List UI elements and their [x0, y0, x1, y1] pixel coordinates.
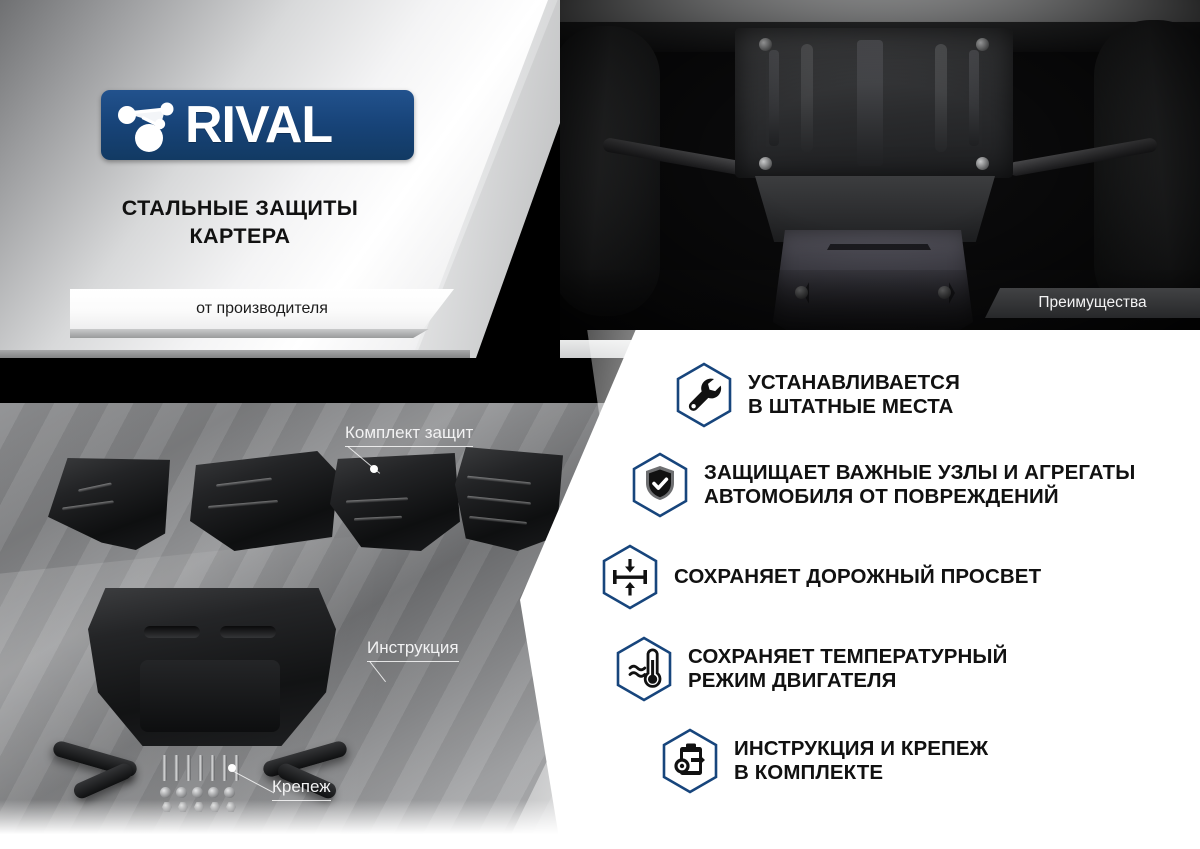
- poster-root: RIVAL СТАЛЬНЫЕ ЗАЩИТЫ КАРТЕРА от произво…: [0, 0, 1200, 849]
- callout-kit-rule: [345, 446, 473, 447]
- ribbon-shadow: [70, 329, 460, 338]
- plate-slot: [220, 626, 276, 638]
- advantage-line1: УСТАНАВЛИВАЕТСЯ: [748, 371, 960, 394]
- advantage-line1: ИНСТРУКЦИЯ И КРЕПЕЖ: [734, 737, 988, 760]
- manufacturer-ribbon: от производителя: [70, 289, 454, 329]
- callout-kit-label: Комплект защит: [345, 423, 473, 442]
- photo-bottom-fade: [0, 800, 620, 849]
- callout-manual-label: Инструкция: [367, 638, 459, 657]
- plate-sump-recess: [140, 660, 280, 732]
- advantage-line2: РЕЖИМ ДВИГАТЕЛЯ: [688, 669, 1007, 693]
- ribbon-label: от производителя: [196, 300, 328, 318]
- skid-plate-main: [88, 588, 336, 746]
- callout-hardware-dot: [228, 764, 236, 772]
- advantage-text: СОХРАНЯЕТ ТЕМПЕРАТУРНЫЙ РЕЖИМ ДВИГАТЕЛЯ: [688, 645, 1007, 693]
- brand-logo: RIVAL: [101, 90, 414, 160]
- advantage-item-kit: ИНСТРУКЦИЯ И КРЕПЕЖ В КОМПЛЕКТЕ: [660, 728, 1200, 794]
- molecule-icon: [113, 94, 187, 156]
- advantage-text: ЗАЩИЩАЕТ ВАЖНЫЕ УЗЛЫ И АГРЕГАТЫ АВТОМОБИ…: [704, 461, 1135, 509]
- advantage-text: УСТАНАВЛИВАЕТСЯ В ШТАТНЫЕ МЕСТА: [748, 371, 960, 419]
- thermometer-icon: [614, 636, 674, 702]
- advantage-text: СОХРАНЯЕТ ДОРОЖНЫЙ ПРОСВЕТ: [674, 565, 1041, 589]
- wrench-icon: [674, 362, 734, 428]
- advantage-line1: СОХРАНЯЕТ ДОРОЖНЫЙ ПРОСВЕТ: [674, 565, 1041, 588]
- advantage-item-protection: ЗАЩИЩАЕТ ВАЖНЫЕ УЗЛЫ И АГРЕГАТЫ АВТОМОБИ…: [630, 452, 1200, 518]
- callout-kit-dot: [370, 465, 378, 473]
- advantage-item-clearance: СОХРАНЯЕТ ДОРОЖНЫЙ ПРОСВЕТ: [600, 544, 1200, 610]
- page-title-line2: КАРТЕРА: [60, 223, 420, 251]
- page-title-line1: СТАЛЬНЫЕ ЗАЩИТЫ: [60, 195, 420, 223]
- advantage-line2: В ШТАТНЫЕ МЕСТА: [748, 395, 960, 419]
- advantage-line1: СОХРАНЯЕТ ТЕМПЕРАТУРНЫЙ: [688, 645, 1007, 668]
- clearance-arrows-icon: [600, 544, 660, 610]
- page-title: СТАЛЬНЫЕ ЗАЩИТЫ КАРТЕРА: [60, 195, 420, 250]
- advantage-line1: ЗАЩИЩАЕТ ВАЖНЫЕ УЗЛЫ И АГРЕГАТЫ: [704, 461, 1135, 484]
- callout-kit: Комплект защит: [345, 423, 473, 447]
- callout-manual-rule: [367, 661, 459, 662]
- advantage-item-installation: УСТАНАВЛИВАЕТСЯ В ШТАТНЫЕ МЕСТА: [674, 362, 1200, 428]
- skid-plate-part-4: [455, 447, 563, 551]
- advantage-item-temperature: СОХРАНЯЕТ ТЕМПЕРАТУРНЫЙ РЕЖИМ ДВИГАТЕЛЯ: [614, 636, 1200, 702]
- brand-name: RIVAL: [185, 99, 332, 151]
- advantage-text: ИНСТРУКЦИЯ И КРЕПЕЖ В КОМПЛЕКТЕ: [734, 737, 988, 785]
- advantages-banner-label: Преимущества: [1038, 294, 1146, 312]
- shield-check-icon: [630, 452, 690, 518]
- clipboard-bolt-icon: [660, 728, 720, 794]
- advantage-line2: АВТОМОБИЛЯ ОТ ПОВРЕЖДЕНИЙ: [704, 485, 1135, 509]
- plate-slot: [144, 626, 200, 638]
- advantages-banner: Преимущества: [985, 288, 1200, 318]
- advantage-line2: В КОМПЛЕКТЕ: [734, 761, 988, 785]
- callout-hardware-label: Крепеж: [272, 777, 331, 796]
- callout-hardware: Крепеж: [272, 777, 331, 801]
- callout-manual: Инструкция: [367, 638, 459, 662]
- advantages-list: УСТАНАВЛИВАЕТСЯ В ШТАТНЫЕ МЕСТА ЗАЩИЩАЕТ…: [612, 362, 1200, 808]
